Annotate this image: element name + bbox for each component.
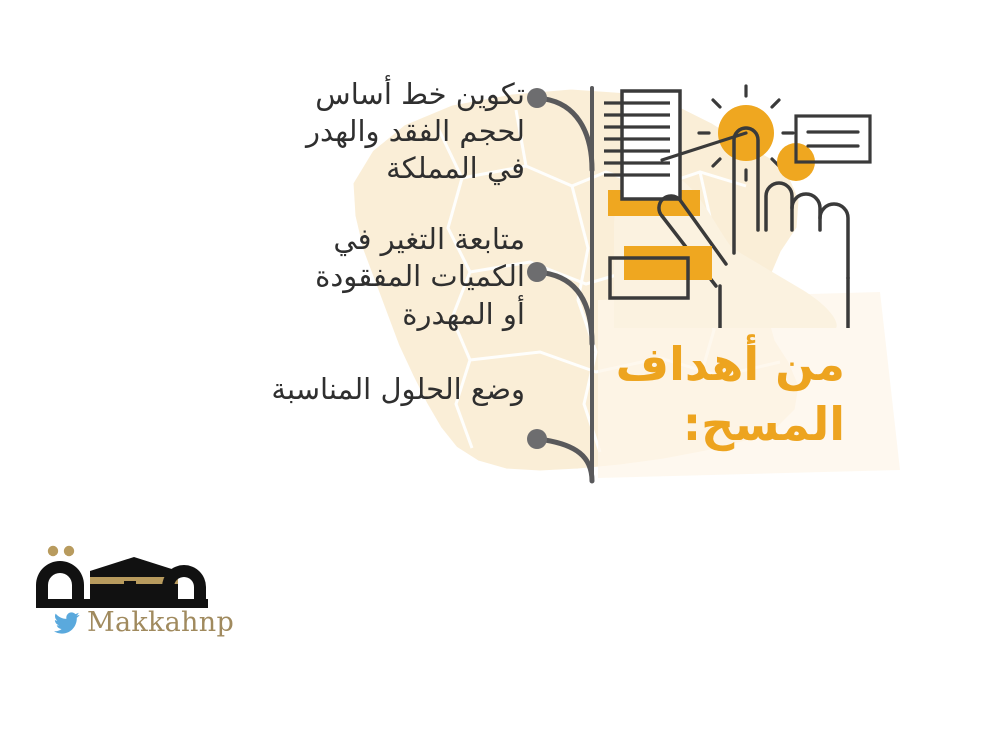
bullet-dot-3 bbox=[527, 429, 547, 449]
orange-highlight-bar-bottom bbox=[624, 246, 712, 280]
infographic-canvas: تكوين خط أساس لحجم الفقد والهدر في الممل… bbox=[0, 0, 1000, 750]
twitter-bird-icon bbox=[54, 612, 80, 634]
bullet-1-line-1: تكوين خط أساس bbox=[150, 76, 525, 113]
logo-dot-right bbox=[48, 546, 58, 556]
twitter-handle[interactable]: Makkahnp bbox=[54, 609, 234, 636]
bullet-2-line-1: متابعة التغير في bbox=[150, 221, 525, 258]
list-item: وضع الحلول المناسبة bbox=[150, 371, 525, 408]
makkah-wordmark bbox=[28, 537, 218, 615]
bullet-1-line-3: في المملكة bbox=[150, 150, 525, 187]
document-lines bbox=[604, 103, 670, 175]
bullet-dot-1 bbox=[527, 88, 547, 108]
connector-curve-1 bbox=[545, 99, 592, 170]
bullet-1-line-2: لحجم الفقد والهدر bbox=[150, 113, 525, 150]
bullet-dot-2 bbox=[527, 262, 547, 282]
survey-illustration bbox=[600, 78, 890, 328]
list-item: متابعة التغير في الكميات المفقودة أو الم… bbox=[150, 221, 525, 332]
bullet-2-line-2: الكميات المفقودة bbox=[150, 258, 525, 295]
logo-dot-left bbox=[64, 546, 74, 556]
document-outline bbox=[622, 91, 680, 199]
page-title: من أهداف المسح: bbox=[545, 335, 845, 455]
handle-text: Makkahnp bbox=[87, 609, 234, 636]
info-card-outline bbox=[796, 116, 870, 162]
headline-line-1: من أهداف bbox=[545, 335, 845, 395]
headline-line-2: المسح: bbox=[545, 395, 845, 455]
objectives-list: تكوين خط أساس لحجم الفقد والهدر في الممل… bbox=[150, 72, 525, 408]
list-item: تكوين خط أساس لحجم الفقد والهدر في الممل… bbox=[150, 76, 525, 187]
connector-curve-2 bbox=[545, 273, 592, 344]
brand-logo[interactable]: Makkahnp bbox=[28, 537, 218, 647]
bullet-3-line-1: وضع الحلول المناسبة bbox=[150, 371, 525, 408]
bullet-2-line-3: أو المهدرة bbox=[150, 296, 525, 333]
